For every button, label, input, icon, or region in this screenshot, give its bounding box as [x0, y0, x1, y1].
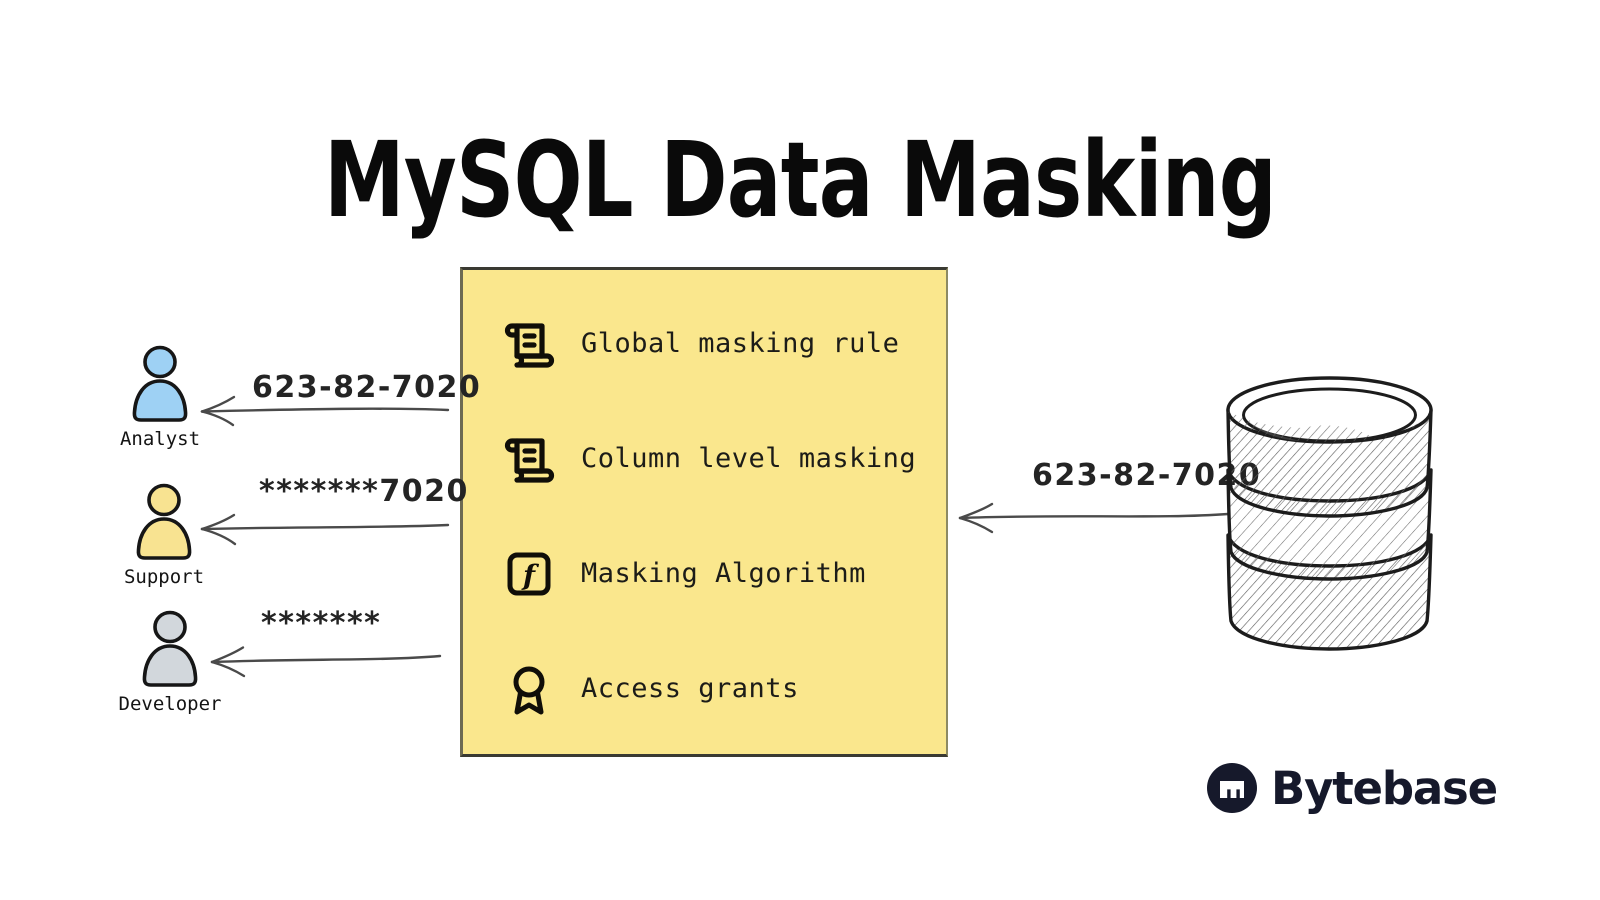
persona-label: Developer — [110, 693, 230, 715]
bytebase-logo-icon — [1206, 762, 1258, 814]
feature-row: f Masking Algorithm — [501, 537, 931, 611]
masking-features-card: Global masking rule Column le — [460, 267, 948, 757]
persona-label: Support — [104, 566, 224, 588]
arrow-to-developer — [196, 638, 446, 680]
feature-list: Global masking rule Column le — [501, 306, 931, 726]
developer-flow-value: ******* — [261, 606, 381, 641]
feature-row: Column level masking — [501, 421, 931, 495]
support-flow-value: *******7020 — [259, 474, 469, 509]
function-icon: f — [501, 546, 557, 602]
feature-label: Access grants — [581, 673, 799, 704]
scroll-icon — [501, 430, 557, 486]
arrow-to-support — [188, 505, 454, 547]
feature-label: Masking Algorithm — [581, 558, 866, 589]
feature-row: Access grants — [501, 652, 931, 726]
brand-name: Bytebase — [1271, 766, 1497, 811]
persona-label: Analyst — [100, 428, 220, 450]
database-icon — [1215, 375, 1445, 660]
feature-row: Global masking rule — [501, 306, 931, 380]
diagram-canvas: MySQL Data Masking Globa — [0, 0, 1600, 900]
arrow-to-analyst — [186, 388, 454, 430]
feature-label: Column level masking — [581, 443, 916, 474]
award-icon — [501, 661, 557, 717]
arrow-from-database — [952, 494, 1232, 536]
feature-label: Global masking rule — [581, 328, 899, 359]
brand-logo: Bytebase — [1206, 762, 1497, 814]
scroll-icon — [501, 315, 557, 371]
svg-text:f: f — [521, 559, 540, 592]
page-title: MySQL Data Masking — [176, 128, 1424, 232]
